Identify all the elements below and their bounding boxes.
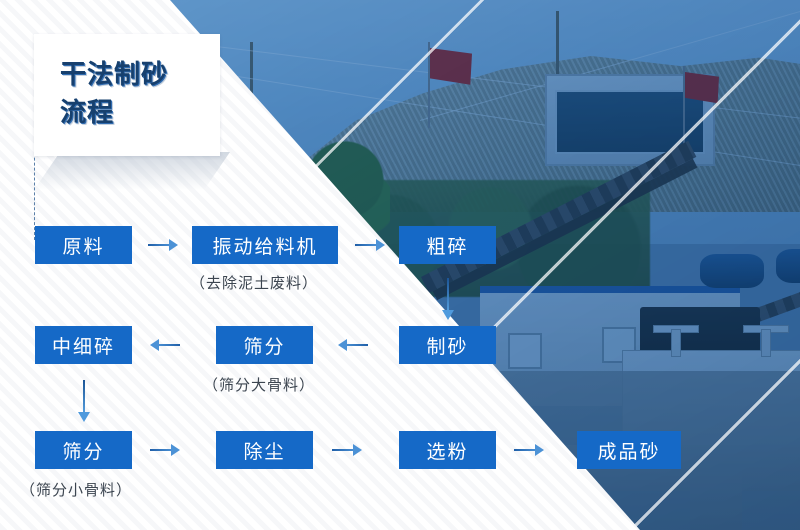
flow-box-finished-sand[interactable]: 成品砂 <box>577 431 681 469</box>
page-title: 干法制砂 流程 <box>60 56 168 132</box>
flow-box-sand-making[interactable]: 制砂 <box>399 326 496 364</box>
arrow-down-icon <box>440 278 456 320</box>
arrow-right-icon <box>150 442 180 458</box>
arrow-left-icon <box>150 337 180 353</box>
title-card-shadow <box>34 152 230 190</box>
flow-box-coarse-crushing[interactable]: 粗碎 <box>399 226 496 264</box>
flow-box-screening-small[interactable]: 筛分 <box>35 431 132 469</box>
arrow-left-icon <box>338 337 368 353</box>
title-card: 干法制砂 流程 <box>34 34 220 156</box>
arrow-down-icon <box>76 380 92 422</box>
flow-box-dust-removal[interactable]: 除尘 <box>216 431 313 469</box>
flow-box-screening-large[interactable]: 筛分 <box>216 326 313 364</box>
flow-box-powder-selecting[interactable]: 选粉 <box>399 431 496 469</box>
flow-box-vibrating-feeder[interactable]: 振动给料机 <box>192 226 338 264</box>
flow-sub-screen-small-aggregate: （筛分小骨料） <box>20 479 132 500</box>
arrow-right-icon <box>355 237 385 253</box>
flow-box-medium-fine-crushing[interactable]: 中细碎 <box>35 326 132 364</box>
flow-box-raw-material[interactable]: 原料 <box>35 226 132 264</box>
infographic-canvas: 干法制砂 流程 原料 振动给料机 （去除泥土废料） 粗碎 中细碎 筛分 （筛分大… <box>0 0 800 530</box>
flow-sub-remove-soil-waste: （去除泥土废料） <box>190 272 318 293</box>
arrow-right-icon <box>514 442 544 458</box>
arrow-right-icon <box>332 442 362 458</box>
arrow-right-icon <box>148 237 178 253</box>
flow-sub-screen-large-aggregate: （筛分大骨料） <box>203 374 315 395</box>
